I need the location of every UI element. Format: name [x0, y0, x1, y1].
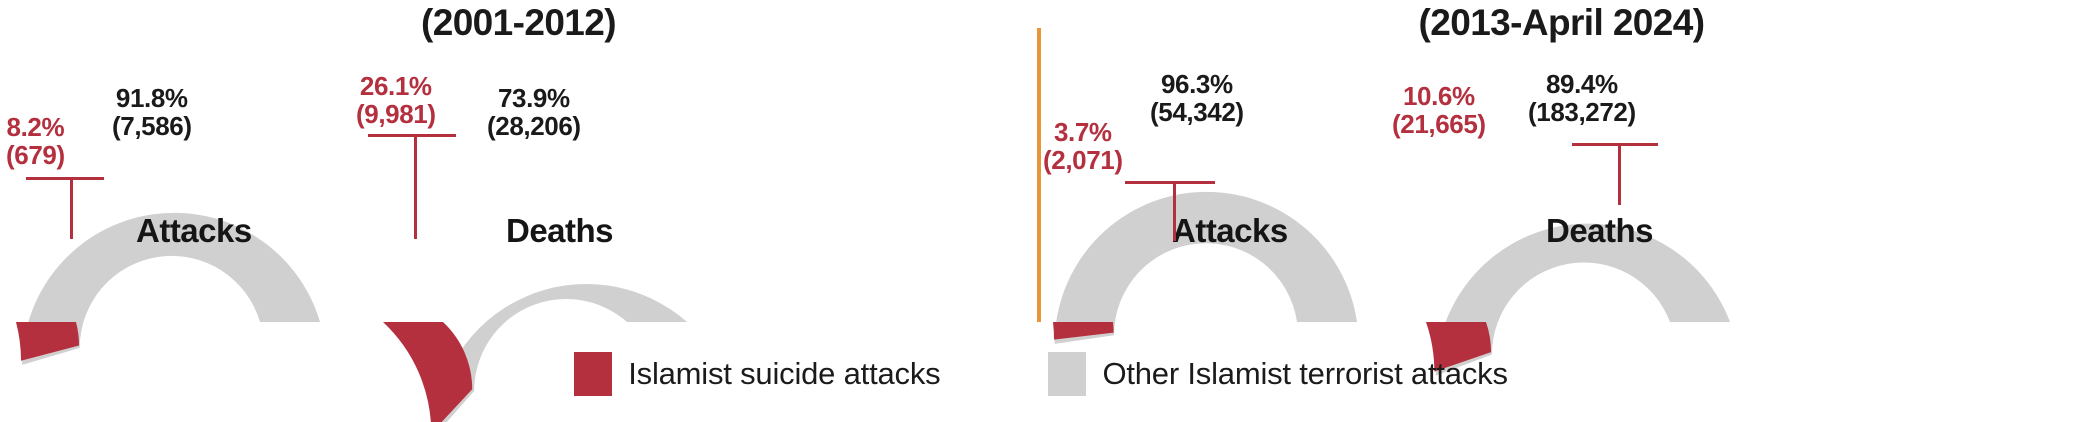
gauge-value-suicide: 10.6%(21,665): [1392, 82, 1486, 138]
other-count: (7,586): [112, 111, 192, 141]
legend-label-suicide: Islamist suicide attacks: [628, 356, 940, 392]
gray-swatch-icon: [1048, 352, 1086, 396]
callout-stem: [414, 134, 417, 239]
legend-item-suicide: Islamist suicide attacks: [574, 352, 940, 396]
callout-underline: [1125, 181, 1215, 184]
gauge-value-suicide: 8.2%(679): [6, 113, 65, 169]
other-percent: 73.9%: [498, 83, 570, 113]
callout-stem: [1618, 143, 1621, 205]
panel-title-1: (2001-2012): [0, 2, 1037, 44]
gauge-value-other: 91.8%(7,586): [112, 84, 192, 140]
gauge-value-other: 73.9%(28,206): [487, 84, 581, 140]
other-count: (54,342): [1150, 97, 1244, 127]
suicide-count: (2,071): [1043, 145, 1123, 175]
other-count: (28,206): [487, 111, 581, 141]
gauge-value-suicide: 3.7%(2,071): [1043, 118, 1123, 174]
red-swatch-icon: [574, 352, 612, 396]
callout-leader: [1572, 143, 1658, 209]
gauge-label-deaths: Deaths: [1546, 212, 1653, 250]
other-count: (183,272): [1528, 97, 1636, 127]
panel-title-2: (2013-April 2024): [1041, 2, 2082, 44]
gauge-value-suicide: 26.1%(9,981): [356, 72, 436, 128]
suicide-percent: 26.1%: [360, 71, 432, 101]
callout-stem: [70, 177, 73, 239]
suicide-count: (679): [6, 140, 65, 170]
infographic-root: (2001-2012) (2013-April 2024) Attacks91.…: [0, 0, 2082, 422]
legend: Islamist suicide attacks Other Islamist …: [0, 352, 2082, 396]
suicide-count: (21,665): [1392, 109, 1486, 139]
other-percent: 96.3%: [1161, 69, 1233, 99]
suicide-count: (9,981): [356, 99, 436, 129]
callout-leader: [26, 177, 104, 243]
gauge-value-other: 89.4%(183,272): [1528, 70, 1636, 126]
callout-underline: [1572, 143, 1658, 146]
suicide-percent: 10.6%: [1403, 81, 1475, 111]
legend-item-other: Other Islamist terrorist attacks: [1048, 352, 1507, 396]
gauge-value-other: 96.3%(54,342): [1150, 70, 1244, 126]
callout-leader: [368, 134, 456, 243]
legend-label-other: Other Islamist terrorist attacks: [1102, 356, 1507, 392]
callout-stem: [1173, 181, 1176, 241]
suicide-percent: 8.2%: [7, 112, 65, 142]
gauge-label-attacks: Attacks: [136, 212, 252, 250]
gauge-label-deaths: Deaths: [506, 212, 613, 250]
callout-underline: [368, 134, 456, 137]
other-percent: 91.8%: [116, 83, 188, 113]
callout-underline: [26, 177, 104, 180]
other-percent: 89.4%: [1546, 69, 1618, 99]
callout-leader: [1125, 181, 1215, 245]
suicide-percent: 3.7%: [1054, 117, 1112, 147]
